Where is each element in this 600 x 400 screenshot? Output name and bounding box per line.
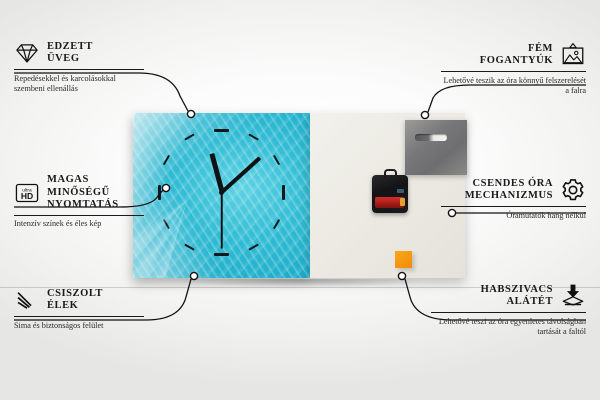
callout-header: FÉM FOGANTYÚK [441,42,586,68]
callout-rule [14,215,144,216]
infographic-canvas: EDZETT ÜVEG Repedésekkel és karcolásokka… [0,0,600,400]
clock-tick [163,155,170,166]
movement-hanger-loop [384,169,397,178]
callout-rule [14,316,144,317]
second-hand [221,192,223,249]
clock-tick [248,133,259,140]
callout-metal-handles[interactable]: FÉM FOGANTYÚK Lehetővé teszik az óra kön… [441,42,586,97]
callout-rule [441,71,586,72]
callout-header: ultra HD MAGAS MINŐSÉGŰ NYOMTATÁS [14,174,144,212]
foam-pad [395,251,412,268]
callout-header: CSISZOLT ÉLEK [14,287,144,313]
callout-title-line2: ÜVEG [47,53,93,66]
gear-icon [560,177,586,203]
callout-title-line1: EDZETT [47,41,93,54]
callout-rule [14,69,144,70]
clock-tick [158,185,161,200]
diamond-icon [14,40,40,66]
callout-subtitle: Repedésekkel és karcolásokkal szembeni e… [14,74,144,95]
minute-hand [220,156,261,193]
clock-hub [219,190,224,195]
hanger-slot [415,134,447,141]
clock-tick [273,155,280,166]
callout-header: CSENDES ÓRA MECHANIZMUS [441,177,586,203]
movement-label [397,189,404,193]
callout-polished-edges[interactable]: CSISZOLT ÉLEK Sima és biztonságos felüle… [14,287,144,331]
clock-front-face [133,113,310,278]
callout-title-line2: FOGANTYÚK [480,55,553,68]
callout-subtitle: Óramutatók hang nélkül [441,211,586,222]
callout-title-line2: MECHANIZMUS [465,190,553,203]
callout-subtitle: Intenzív színek és éles kép [14,219,144,230]
callout-title-line1: FÉM [480,43,553,56]
hour-hand [209,153,224,193]
clock-tick [163,219,170,230]
polished-edges-icon [14,287,40,313]
callout-title-line2: NYOMTATÁS [47,199,144,212]
svg-text:HD: HD [21,191,33,201]
callout-title-line1: HABSZIVACS [481,284,553,297]
callout-subtitle: Lehetővé teszik az óra könnyű felszerelé… [441,76,586,97]
callout-title-line2: ALÁTÉT [481,296,553,309]
callout-silent-mechanism[interactable]: CSENDES ÓRA MECHANIZMUS Óramutatók hang … [441,177,586,221]
callout-foam-pad[interactable]: HABSZIVACS ALÁTÉT Lehetővé teszi az óra … [431,283,586,338]
clock-tick [184,244,195,251]
callout-tempered-glass[interactable]: EDZETT ÜVEG Repedésekkel és karcolásokka… [14,40,144,95]
callout-header: EDZETT ÜVEG [14,40,144,66]
callout-rule [431,312,586,313]
clock-tick [214,253,229,256]
callout-high-quality-print[interactable]: ultra HD MAGAS MINŐSÉGŰ NYOMTATÁS Intenz… [14,174,144,230]
callout-title-line2: ÉLEK [47,300,103,313]
ultra-hd-icon: ultra HD [14,180,40,206]
wall-hanging-frame-icon [560,42,586,68]
clock-tick [214,129,229,132]
callout-title-line1: MAGAS MINŐSÉGŰ [47,174,144,199]
clock-tick [273,219,280,230]
clock-tick [184,133,195,140]
metal-hanger-plate [405,120,467,175]
callout-title-line1: CSISZOLT [47,288,103,301]
callout-title-line1: CSENDES ÓRA [465,178,553,191]
callout-subtitle: Sima és biztonságos felület [14,321,144,332]
battery-terminal [400,198,405,206]
clock-tick [248,244,259,251]
clock-tick [282,185,285,200]
press-down-pad-icon [560,283,586,309]
callout-subtitle: Lehetővé teszi az óra egyenletes távolsá… [431,317,586,338]
callout-rule [441,206,586,207]
callout-header: HABSZIVACS ALÁTÉT [431,283,586,309]
